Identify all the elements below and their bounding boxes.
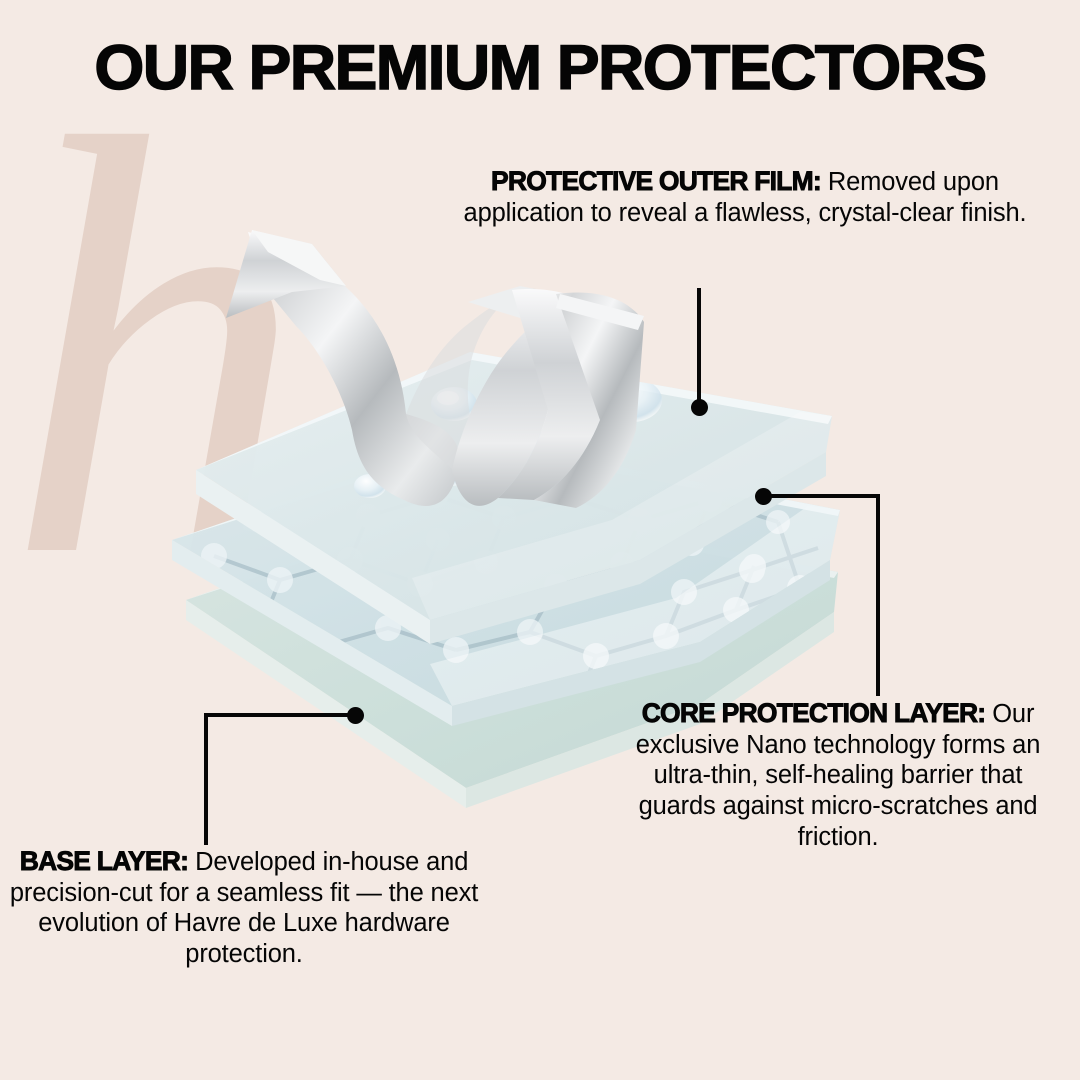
callout-protective-outer-film: PROTECTIVE OUTER FILM: Removed upon appl…: [452, 166, 1038, 228]
callout-film-lead: PROTECTIVE OUTER FILM:: [491, 166, 821, 196]
callout-base-lead: BASE LAYER:: [20, 846, 188, 876]
water-droplets: [354, 378, 662, 498]
callout-core-lead: CORE PROTECTION LAYER:: [642, 698, 986, 728]
callout-core-protection-layer: CORE PROTECTION LAYER: Our exclusive Nan…: [612, 698, 1064, 852]
callout-core-text: CORE PROTECTION LAYER: Our exclusive Nan…: [612, 698, 1064, 852]
page-title: OUR PREMIUM PROTECTORS: [0, 32, 1080, 104]
brand-watermark-letter: h: [6, 78, 306, 618]
callout-base-text: BASE LAYER: Developed in-house and preci…: [8, 846, 480, 970]
callout-film-text: PROTECTIVE OUTER FILM: Removed upon appl…: [452, 166, 1038, 228]
callout-base-layer: BASE LAYER: Developed in-house and preci…: [8, 846, 480, 970]
